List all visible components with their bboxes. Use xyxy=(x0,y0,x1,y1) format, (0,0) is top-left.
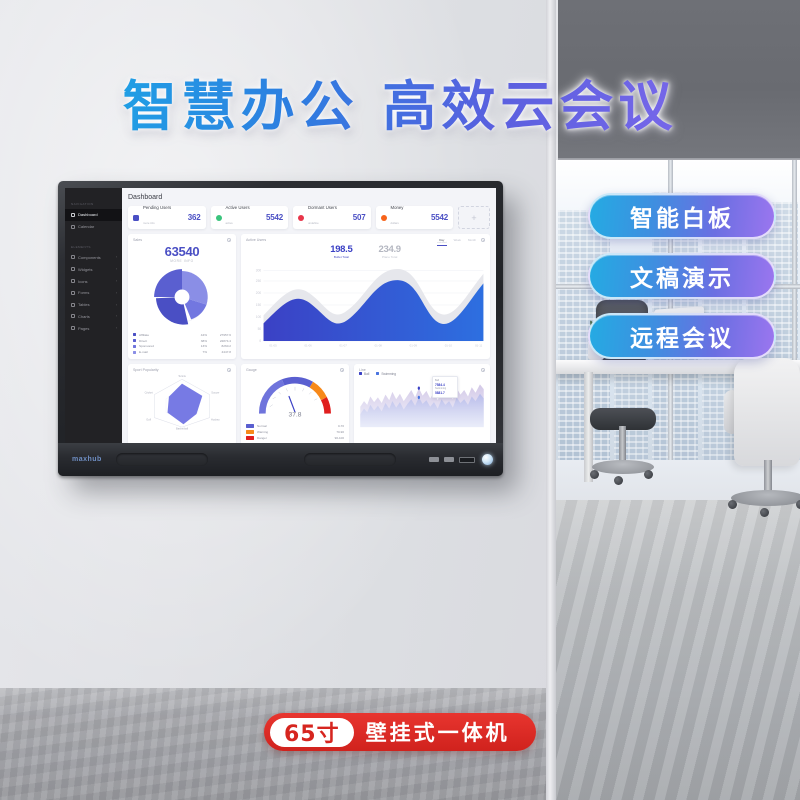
stat-title: Active Users xyxy=(226,205,263,210)
chevron-right-icon: › xyxy=(116,279,117,283)
heart-icon xyxy=(298,215,304,221)
svg-text:200: 200 xyxy=(256,291,262,295)
svg-text:300: 300 xyxy=(256,268,262,272)
feature-badge-list: 智能白板 文稿演示 远程会议 xyxy=(588,193,776,373)
legend-label: Danger xyxy=(257,436,322,440)
legend-label: Normal xyxy=(257,424,322,428)
speaker-grille xyxy=(304,453,396,466)
legend-range: 70-90 xyxy=(322,430,344,434)
legend-label: E-mail xyxy=(139,350,191,354)
speaker-grille xyxy=(116,453,208,466)
legend-range: 90-100 xyxy=(322,436,344,440)
sidebar-item-label: Widgets xyxy=(78,267,92,272)
sidebar-item-dashboard[interactable]: Dashboard xyxy=(65,209,122,221)
dashboard-main: Dashboard Pending Users more info 362 Ac… xyxy=(122,188,496,443)
pages-icon xyxy=(71,326,75,330)
active-users-area-chart: 050 100150 200250 300 01-0501-06 01-0701… xyxy=(246,261,485,349)
stat-title: Pending Users xyxy=(143,205,184,210)
display-screen: NAVIGATION Dashboard Calendar ELEMENTS C… xyxy=(65,188,496,443)
feature-badge-whiteboard[interactable]: 智能白板 xyxy=(588,193,776,239)
sidebar-group-elements: ELEMENTS xyxy=(65,240,122,252)
svg-text:100: 100 xyxy=(256,315,262,319)
metric-bullet-total: 198.5 Bullet Total xyxy=(330,244,352,259)
product-banner: 65寸 壁挂式一体机 xyxy=(264,713,536,751)
sidebar-item-label: Components xyxy=(78,255,101,260)
svg-text:250: 250 xyxy=(256,279,262,283)
radar-axis-label: Basketball xyxy=(176,426,188,430)
tab-sublabel: undefined xyxy=(437,242,447,244)
panel-sales: Sales 63540 MORE INFO xyxy=(128,234,236,359)
office-floor xyxy=(556,500,800,800)
home-icon xyxy=(71,213,75,217)
chair-base xyxy=(731,490,800,506)
sidebar-item-icons[interactable]: Icons › xyxy=(65,275,122,287)
sidebar-item-label: Forms xyxy=(78,290,89,295)
active-users-metrics: 198.5 Bullet Total 234.9 Plane Total xyxy=(246,244,485,259)
sidebar-item-pages[interactable]: Pages › xyxy=(65,322,122,334)
panel-sport-popularity: Sport Popularity Tennis Soccer Hockey Ba… xyxy=(128,364,236,443)
panel-gauge: Gauge 37.8 xyxy=(241,364,349,443)
chevron-right-icon: › xyxy=(116,314,117,318)
feature-badge-presentation[interactable]: 文稿演示 xyxy=(588,253,776,299)
legend-swatch xyxy=(133,351,136,354)
sidebar-item-label: Icons xyxy=(78,279,88,284)
radar-chart: Tennis Soccer Hockey Basketball Golf Cri… xyxy=(133,372,231,430)
svg-text:01-06: 01-06 xyxy=(304,344,312,348)
dashboard-row-3: Sport Popularity Tennis Soccer Hockey Ba… xyxy=(128,364,490,443)
power-indicator xyxy=(482,454,493,465)
legend-swatch xyxy=(133,345,136,348)
tab-month[interactable]: Month xyxy=(468,238,476,246)
svg-text:01-11: 01-11 xyxy=(475,344,482,348)
sidebar-item-label: Dashboard xyxy=(78,212,98,217)
metric-plane-total: 234.9 Plane Total xyxy=(379,244,401,259)
legend-percent: 38% xyxy=(191,339,207,343)
stat-value: 362 xyxy=(188,213,201,222)
stat-value: 5542 xyxy=(431,213,448,222)
dashboard-sidebar: NAVIGATION Dashboard Calendar ELEMENTS C… xyxy=(65,188,122,443)
tooltip-series2-value: 5881.7 xyxy=(435,391,455,396)
metric-label: Bullet Total xyxy=(330,255,352,259)
sidebar-item-charts[interactable]: Charts › xyxy=(65,310,122,322)
legend-percent: 7% xyxy=(191,350,207,354)
donut-chart xyxy=(133,266,231,328)
stat-card-pending-users[interactable]: Pending Users more info 362 xyxy=(128,206,206,229)
stat-value: 5542 xyxy=(266,213,283,222)
sidebar-item-widgets[interactable]: Widgets › xyxy=(65,263,122,275)
sidebar-item-tables[interactable]: Tables › xyxy=(65,299,122,311)
svg-text:150: 150 xyxy=(256,303,262,307)
stat-subtitle: undefine xyxy=(308,221,319,225)
legend-item-ball[interactable]: Ball xyxy=(359,372,369,376)
legend-value: 8260.2 xyxy=(207,344,231,348)
svg-text:01-07: 01-07 xyxy=(340,344,348,348)
sales-total: 63540 xyxy=(133,244,231,259)
chair-post xyxy=(764,460,772,494)
stat-value: 507 xyxy=(353,213,366,222)
mount-type-label: 壁挂式一体机 xyxy=(366,717,510,747)
chevron-right-icon: › xyxy=(116,291,117,295)
sidebar-item-label: Pages xyxy=(78,326,89,331)
icons-icon xyxy=(71,279,75,283)
page-title: Dashboard xyxy=(128,194,490,201)
chevron-right-icon: › xyxy=(116,255,117,259)
legend-range: 0-70 xyxy=(322,424,344,428)
sidebar-item-calendar[interactable]: Calendar xyxy=(65,221,122,233)
legend-value: 4447.8 xyxy=(207,350,231,354)
svg-text:01-05: 01-05 xyxy=(269,344,277,348)
radar-axis-label: Tennis xyxy=(178,374,186,378)
gauge-legend-item: Danger 90-100 xyxy=(246,435,344,441)
legend-value: 27957.6 xyxy=(207,333,231,337)
gear-icon[interactable] xyxy=(481,238,485,242)
svg-text:0: 0 xyxy=(259,339,261,343)
tab-day[interactable]: Day undefined xyxy=(437,238,447,246)
legend-item: E-mail 7% 4447.8 xyxy=(133,349,231,355)
tooltip-series1-name: Ball xyxy=(435,379,439,382)
money-icon xyxy=(381,215,387,221)
legend-swatch xyxy=(246,436,254,439)
radar-axis-label: Soccer xyxy=(211,391,219,395)
legend-percent: 44% xyxy=(191,333,207,337)
svg-text:01-09: 01-09 xyxy=(410,344,418,348)
stat-card-active-users[interactable]: Active Users active 5542 xyxy=(211,206,289,229)
stat-card-dormant-users[interactable]: Dormant Users undefine 507 xyxy=(293,206,371,229)
line-legend: Ball Swimming xyxy=(359,372,485,376)
stat-card-money[interactable]: Money dollars 5542 xyxy=(376,206,454,229)
stat-subtitle: more info xyxy=(143,221,155,225)
dashboard-row-2: Sales 63540 MORE INFO xyxy=(128,234,490,359)
radar-axis-label: Cricket xyxy=(145,391,153,395)
active-users-icon xyxy=(216,215,222,221)
legend-label: Warning xyxy=(257,430,322,434)
components-icon xyxy=(71,255,75,259)
legend-label: Swimming xyxy=(381,372,396,376)
svg-text:01-08: 01-08 xyxy=(375,344,383,348)
active-users-tabs: Day undefined Week Month xyxy=(437,238,476,246)
pending-users-icon xyxy=(133,215,139,221)
gauge-value: 37.8 xyxy=(289,412,302,418)
panel-line: Line Ball Swimming xyxy=(354,364,490,443)
sidebar-item-label: Tables xyxy=(78,302,90,307)
legend-swatch xyxy=(133,333,136,336)
sales-subtitle: MORE INFO xyxy=(133,259,231,263)
radar-axis-label: Hockey xyxy=(211,418,220,422)
chair-post xyxy=(619,426,626,464)
line-area-chart xyxy=(359,377,485,429)
legend-swatch xyxy=(246,424,254,427)
svg-text:01-10: 01-10 xyxy=(445,344,453,348)
stat-card-row: Pending Users more info 362 Active Users… xyxy=(128,206,490,229)
chart-tooltip: Ball 7584.4 Swimming 5881.7 xyxy=(432,376,458,398)
office-chair-light-back xyxy=(734,358,800,466)
panel-active-users: Active Users Day undefined Week Month 19… xyxy=(241,234,490,359)
charts-icon xyxy=(71,314,75,318)
add-card-button[interactable]: + xyxy=(458,206,490,229)
legend-label: Sponsored xyxy=(139,344,191,348)
gear-icon[interactable] xyxy=(227,238,231,242)
chevron-right-icon: › xyxy=(116,267,117,271)
legend-label: Ball xyxy=(364,372,369,376)
chevron-right-icon: › xyxy=(116,303,117,307)
legend-label: Affiliate xyxy=(139,333,191,337)
legend-item-swimming[interactable]: Swimming xyxy=(376,372,396,376)
stat-title: Money xyxy=(391,205,428,210)
legend-swatch xyxy=(133,339,136,342)
brand-logo: maxhub xyxy=(72,456,102,463)
svg-text:50: 50 xyxy=(258,327,262,331)
metric-value: 198.5 xyxy=(330,244,352,255)
sidebar-item-label: Calendar xyxy=(78,224,94,229)
tables-icon xyxy=(71,303,75,307)
usb-port xyxy=(444,457,454,462)
widgets-icon xyxy=(71,267,75,271)
tab-week[interactable]: Week xyxy=(454,238,461,246)
sidebar-item-forms[interactable]: Forms › xyxy=(65,287,122,299)
usb-port xyxy=(429,457,439,462)
radar-axis-label: Golf xyxy=(146,418,151,422)
display-bezel-bottom: maxhub xyxy=(58,443,503,476)
legend-label: Direct xyxy=(139,339,191,343)
stat-subtitle: dollars xyxy=(391,221,399,225)
gauge-chart: 37.8 xyxy=(246,372,344,418)
metric-label: Plane Total xyxy=(379,255,401,259)
sidebar-group-navigation: NAVIGATION xyxy=(65,197,122,209)
legend-swatch xyxy=(246,430,254,433)
calendar-icon xyxy=(71,225,75,229)
tooltip-series2-name: Swimming xyxy=(435,387,446,390)
stat-title: Dormant Users xyxy=(308,205,349,210)
panel-title: Sales xyxy=(133,238,231,242)
stat-subtitle: active xyxy=(226,221,233,225)
metric-value: 234.9 xyxy=(379,244,401,255)
sidebar-item-label: Charts xyxy=(78,314,90,319)
screen-size-badge: 65寸 xyxy=(270,718,354,747)
page-headline: 智慧办公 高效云会议 xyxy=(0,62,800,141)
feature-badge-remote-meeting[interactable]: 远程会议 xyxy=(588,313,776,359)
legend-value: 22874.4 xyxy=(207,339,231,343)
hdmi-port xyxy=(459,457,475,463)
wall-mounted-display: NAVIGATION Dashboard Calendar ELEMENTS C… xyxy=(58,181,503,476)
legend-percent: 13% xyxy=(191,344,207,348)
sidebar-item-components[interactable]: Components › xyxy=(65,252,122,264)
forms-icon xyxy=(71,291,75,295)
chevron-right-icon: › xyxy=(116,326,117,330)
